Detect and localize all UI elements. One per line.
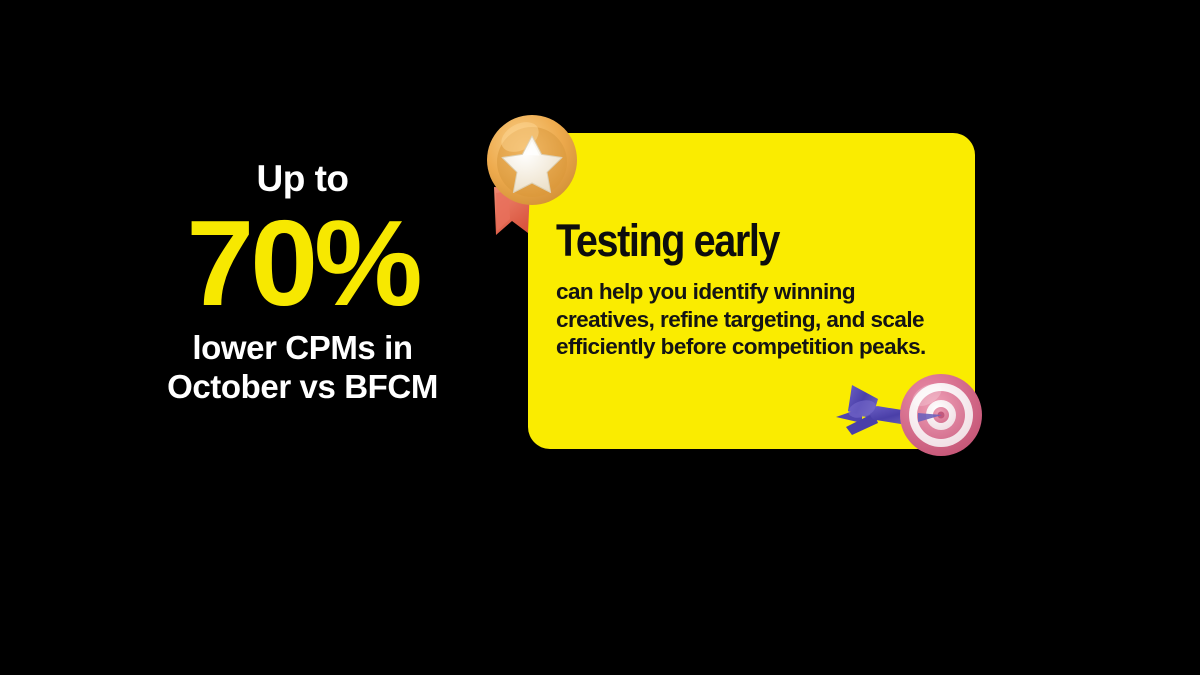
stat-caption-line-1: lower CPMs in — [110, 329, 495, 368]
tip-card-body-line-2: creatives, refine targeting, and scale — [556, 306, 954, 334]
tip-card-body-line-3: efficiently before competition peaks. — [556, 333, 954, 361]
stat-caption: lower CPMs in October vs BFCM — [110, 329, 495, 407]
medal-ribbon-shape — [494, 187, 530, 235]
stat-caption-line-2: October vs BFCM — [110, 368, 495, 407]
stat-block: Up to 70% lower CPMs in October vs BFCM — [110, 160, 495, 407]
slide-canvas: Up to 70% lower CPMs in October vs BFCM … — [0, 0, 1200, 675]
tip-card-body: can help you identify winning creatives,… — [556, 278, 954, 361]
stat-value: 70% — [110, 201, 495, 325]
tip-card-heading: Testing early — [556, 218, 779, 263]
tip-card: Testing early can help you identify winn… — [528, 133, 975, 449]
tip-card-body-line-1: can help you identify winning — [556, 278, 954, 306]
stat-eyebrow: Up to — [110, 160, 495, 199]
